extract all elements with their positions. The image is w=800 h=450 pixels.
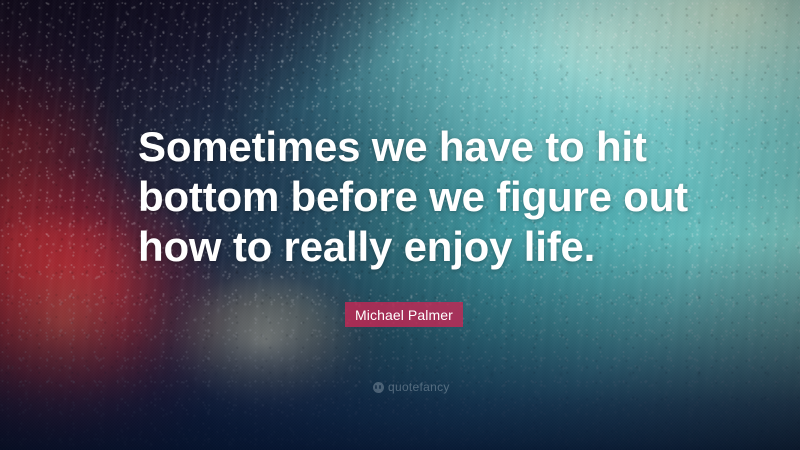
watermark: quotefancy xyxy=(373,381,450,393)
quote-line-2: bottom before we figure xyxy=(138,173,612,220)
author-name: Michael Palmer xyxy=(355,307,453,323)
quote-poster: Sometimes we have to hit bottom before w… xyxy=(0,0,800,450)
quote-text: Sometimes we have to hit bottom before w… xyxy=(138,122,698,272)
quote-line-1: Sometimes we have to hit xyxy=(138,123,647,170)
watermark-brand: quotefancy xyxy=(388,381,450,393)
author-badge: Michael Palmer xyxy=(345,302,463,327)
poster-content: Sometimes we have to hit bottom before w… xyxy=(0,0,800,450)
quotefancy-logo-icon xyxy=(373,382,384,393)
